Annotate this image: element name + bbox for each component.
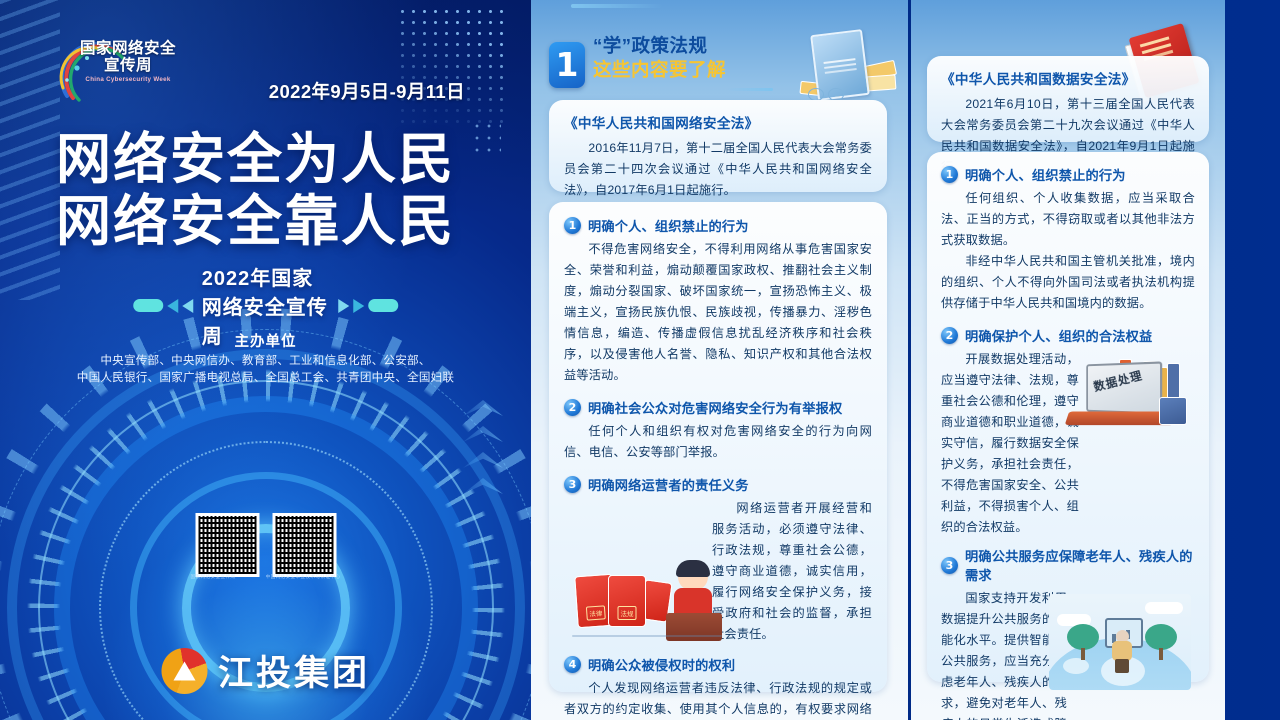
cybersecurity-week-logo-text: 国家网络安全 宣传周 China Cybersecurity Week: [72, 40, 184, 83]
item-title: 明确个人、组织禁止的行为: [965, 165, 1126, 184]
law-item: 1 明确个人、组织禁止的行为 不得危害网络安全，不得利用网络从事危害国家安全、荣…: [564, 216, 872, 386]
group-logo-mark-icon: [161, 648, 207, 694]
section-header: 1 “学”政策法规 这些内容要了解: [549, 30, 799, 92]
book-label-2: 法规: [618, 606, 637, 620]
header-decoration-line: [571, 4, 663, 8]
qr-code-left[interactable]: [195, 513, 259, 577]
screenshot-canvas: 国家网络安全 宣传周 China Cybersecurity Week 2022…: [0, 0, 1280, 720]
section-title-line-2: 这些内容要了解: [593, 58, 726, 82]
law-item: 2 明确保护个人、组织的合法权益 开展数据处理活动，应当遵守法律、法规，尊重社会…: [941, 326, 1195, 538]
item-title: 明确保护个人、组织的合法权益: [965, 326, 1152, 345]
law-item: 1 明确个人、组织禁止的行为 任何组织、个人收集数据，应当采取合法、正当的方式，…: [941, 165, 1195, 314]
side-book-icon: [1159, 397, 1187, 425]
qr-code-group[interactable]: [195, 513, 336, 577]
item-body: 不得危害网络安全，不得利用网络从事危害国家安全、荣誉和利益，煽动颠覆国家政权、推…: [564, 239, 872, 386]
law-intro-card: 《中华人民共和国数据安全法》 2021年6月10日，第十三届全国人民代表大会常务…: [927, 56, 1209, 142]
group-logo-text: 江投集团: [218, 645, 370, 696]
law-items-card: 1 明确个人、组织禁止的行为 任何组织、个人收集数据，应当采取合法、正当的方式，…: [927, 152, 1209, 682]
law-items-card: 1 明确个人、组织禁止的行为 不得危害网络安全，不得利用网络从事危害国家安全、荣…: [549, 202, 887, 692]
item-body: 任何个人和组织有权对危害网络安全的行为向网信、电信、公安等部门举报。: [564, 421, 872, 463]
qr-caption-right: 中国网络安全审查技术与认证中心: [266, 574, 341, 580]
headline-line-2: 网络安全靠人民: [56, 190, 476, 252]
host-units-title: 主办单位: [0, 330, 531, 351]
item-body: 网络运营者开展经营和服务活动，必须遵守法律、行政法规，尊重社会公德，遵守商业道德…: [712, 498, 872, 645]
law-intro-card: 《中华人民共和国网络安全法》 2016年11月7日，第十二届全国人民代表大会常务…: [549, 100, 887, 192]
item-number-badge: 3: [564, 476, 581, 493]
item-number-badge: 4: [564, 656, 581, 673]
law-item: 3 明确网络运营者的责任义务 网络运营者开展经营和服务活动，必须遵守法律、行政法…: [564, 475, 872, 645]
law-body: 2016年11月7日，第十二届全国人民代表大会常务委员会第二十四次会议通过《中华…: [564, 138, 872, 201]
section-title-line-1: “学”政策法规: [593, 34, 726, 58]
qr-caption-left: 国家网络安全宣传周: [191, 574, 236, 580]
item-number-badge: 1: [564, 217, 581, 234]
item-number-badge: 3: [941, 557, 958, 574]
host-units-line-2: 中国人民银行、国家广播电视总局、全国总工会、共青团中央、全国妇联: [0, 369, 531, 386]
event-date-range: 2022年9月5日-9月11日: [269, 78, 465, 104]
elderly-person-icon: [1111, 630, 1133, 672]
item-title: 明确网络运营者的责任义务: [588, 475, 749, 494]
decorative-stripes: [0, 0, 60, 300]
item-title: 明确社会公众对危害网络安全行为有举报权: [588, 398, 842, 417]
logo-line-1: 国家网络安全: [72, 40, 184, 57]
group-logo: 江投集团: [161, 645, 370, 696]
headline-line-1: 网络安全为人民: [56, 128, 476, 190]
law-item: 2 明确社会公众对危害网络安全行为有举报权 任何个人和组织有权对危害网络安全的行…: [564, 398, 872, 463]
item-body: 个人发现网络运营者违反法律、行政法规的规定或者双方的约定收集、使用其个人信息的，…: [564, 678, 872, 720]
book-label-1: 法律: [586, 605, 606, 620]
dot-matrix-decoration: [397, 6, 507, 131]
qr-captions: 国家网络安全宣传周 中国网络安全审查技术与认证中心: [191, 574, 341, 580]
item-title: 明确公共服务应保障老年人、残疾人的需求: [965, 546, 1195, 584]
poster-headline: 网络安全为人民 网络安全靠人民: [56, 128, 476, 252]
banner-left-arrows-icon: [133, 299, 193, 313]
item-number-badge: 1: [941, 166, 958, 183]
glasses-icon: [808, 88, 844, 100]
content-panel-network-security-law: 1 “学”政策法规 这些内容要了解 《中华人民共和国网络安全法》 2016年11…: [531, 0, 908, 720]
law-title: 《中华人民共和国数据安全法》: [941, 68, 1195, 88]
logo-english: China Cybersecurity Week: [72, 76, 184, 83]
host-units-list: 中央宣传部、中央网信办、教育部、工业和信息化部、公安部、 中国人民银行、国家广播…: [0, 352, 531, 386]
law-item: 4 明确公众被侵权时的权利 个人发现网络运营者违反法律、行政法规的规定或者双方的…: [564, 655, 872, 720]
section-title: “学”政策法规 这些内容要了解: [593, 34, 726, 82]
law-books-characters-illustration-icon: 法律 法规: [572, 545, 722, 641]
item-number-badge: 2: [941, 327, 958, 344]
section-number-badge: 1: [549, 42, 585, 88]
law-item: 3 明确公共服务应保障老年人、残疾人的需求 国家支持开发利用数据提升公共服务的智…: [941, 546, 1195, 720]
poster-panel: 国家网络安全 宣传周 China Cybersecurity Week 2022…: [0, 0, 531, 720]
banner-right-arrows-icon: [338, 299, 398, 313]
data-processing-laptop-illustration-icon: 数据处理: [1057, 357, 1189, 457]
item-title: 明确公众被侵权时的权利: [588, 655, 735, 674]
logo-line-2: 宣传周: [72, 57, 184, 74]
book-character-2-icon: 法规: [608, 575, 646, 627]
item-body-part-1: 任何组织、个人收集数据，应当采取合法、正当的方式，不得窃取或者以其他非法方式获取…: [941, 188, 1195, 251]
elderly-accessibility-illustration-icon: [1049, 594, 1191, 690]
item-title: 明确个人、组织禁止的行为: [588, 216, 749, 235]
item-body-part-2: 非经中华人民共和国主管机关批准，境内的组织、个人不得向外国司法或者执法机构提供存…: [941, 251, 1195, 314]
cloud-icon: [1145, 602, 1183, 614]
books-illustration-icon: [792, 28, 900, 108]
law-title: 《中华人民共和国网络安全法》: [564, 112, 872, 132]
content-panel-data-security-law: 《中华人民共和国数据安全法》 2021年6月10日，第十三届全国人民代表大会常务…: [911, 0, 1225, 720]
qr-code-right[interactable]: [272, 513, 336, 577]
host-units-line-1: 中央宣传部、中央网信办、教育部、工业和信息化部、公安部、: [0, 352, 531, 369]
header-decoration-line-2: [727, 88, 773, 91]
item-number-badge: 2: [564, 399, 581, 416]
